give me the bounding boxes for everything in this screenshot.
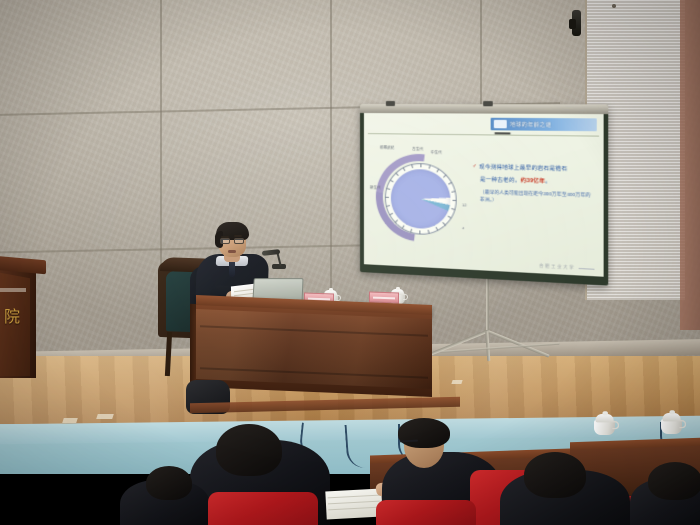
- teacup: [594, 411, 615, 435]
- chart-label: 新生代: [370, 185, 381, 190]
- screen-clip-icon: [483, 101, 493, 106]
- geologic-clock-chart: 前寒武纪 古生代 中生代 新生代 12 3: [372, 145, 471, 258]
- floor-debris: [96, 414, 114, 419]
- audience-chair: [376, 500, 476, 525]
- wall-trim: [680, 0, 700, 330]
- slide-divider: [368, 133, 599, 137]
- chart-tick-label: 12: [462, 202, 467, 207]
- audience-head: [216, 424, 282, 476]
- slide-title-number: 一: [494, 120, 507, 128]
- eyeglasses-icon: [220, 238, 245, 244]
- teacup: [661, 410, 682, 434]
- chart-label: 中生代: [431, 150, 442, 155]
- slide-bullet-subtext: （最早的人类可能出现在距今300万年至400万年的非洲。）: [480, 188, 596, 206]
- speaker-mouth: [228, 250, 236, 253]
- lectern-emblem-text: 院: [4, 306, 22, 328]
- audience-head: [524, 452, 586, 498]
- slide-footer-rule: [579, 267, 595, 269]
- slide-bullet-line2-suffix: 。: [545, 178, 551, 185]
- chart-tick-label: 3: [462, 225, 464, 230]
- slide-bullet-line2-prefix: 是一种古老的，: [480, 177, 521, 184]
- slide-bullet-line2: 是一种古老的，约39亿年。: [480, 176, 596, 187]
- speaker-eyebrow: [234, 235, 242, 237]
- wall-seam: [330, 0, 332, 300]
- slide-bullet-line1: 现今测得地球上最早的岩石是锆石: [479, 163, 567, 173]
- speaker-necktie: [229, 261, 235, 277]
- wall-camera-icon: [572, 10, 581, 36]
- screen-clip-icon: [386, 101, 395, 106]
- slide-bullet-highlight: 约39亿年: [521, 178, 546, 185]
- slide-footer-text: 合肥工业大学: [539, 263, 575, 271]
- floor-debris: [62, 418, 78, 423]
- checkmark-icon: ✓: [473, 163, 477, 170]
- screen-frame: 一 地球的年龄之谜: [360, 104, 608, 286]
- wall-fixture-icon: [612, 4, 616, 8]
- audience-notes: [325, 489, 382, 520]
- lecture-hall-photo: 一 地球的年龄之谜: [0, 0, 700, 525]
- slide-footer: 合肥工业大学: [539, 263, 594, 272]
- slide-body-text: ✓ 现今测得地球上最早的岩石是锆石 是一种古老的，约39亿年。 （最早的人类可能…: [473, 163, 596, 206]
- wall-seam: [160, 0, 162, 300]
- audience-hair: [398, 418, 450, 448]
- chart-label: 前寒武纪: [380, 145, 394, 150]
- slide-title-bar: 一 地球的年龄之谜: [491, 118, 597, 132]
- slide-canvas: 一 地球的年龄之谜: [364, 113, 604, 277]
- projection-screen: 一 地球的年龄之谜: [360, 104, 593, 272]
- lectern-shelf: [0, 288, 26, 292]
- floor-debris: [451, 380, 462, 384]
- slide-bullet: ✓ 现今测得地球上最早的岩石是锆石: [473, 163, 596, 174]
- wall-seam: [480, 0, 482, 110]
- chart-label: 古生代: [412, 147, 423, 152]
- audience-head: [146, 466, 192, 500]
- audience-head: [648, 462, 700, 500]
- slide-title-text: 地球的年龄之谜: [510, 120, 551, 128]
- audience-chair: [208, 492, 318, 525]
- screen-tripod-pole: [486, 270, 489, 332]
